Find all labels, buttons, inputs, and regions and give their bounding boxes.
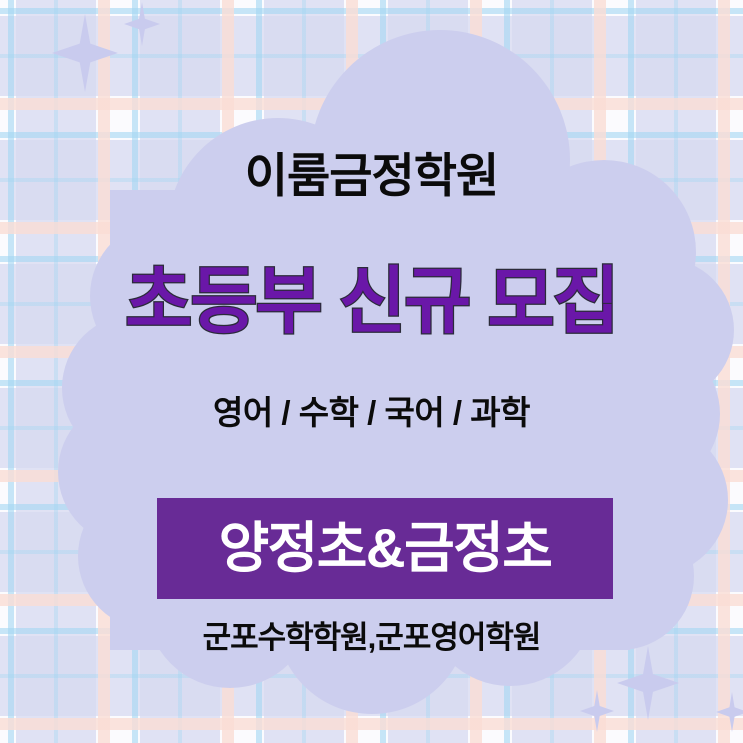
subjects-list: 영어 / 수학 / 국어 / 과학: [0, 396, 743, 429]
page-title-headline: 초등부 신규 모집: [0, 265, 743, 338]
footer-keywords: 군포수학학원,군포영어학원: [0, 622, 743, 653]
schools-banner: 양정초&금정초: [157, 498, 613, 599]
schools-banner-label: 양정초&금정초: [219, 521, 552, 576]
academy-name: 이룸금정학원: [0, 152, 743, 199]
poster-canvas: 이룸금정학원 초등부 신규 모집 영어 / 수학 / 국어 / 과학 양정초&금…: [0, 0, 743, 743]
